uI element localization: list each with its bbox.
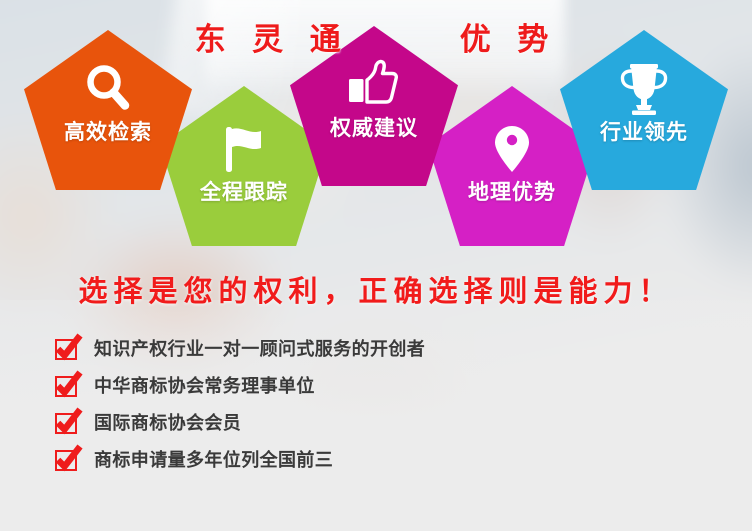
list-item-label: 知识产权行业一对一顾问式服务的开创者: [94, 340, 425, 358]
feature-label: 权威建议: [330, 118, 418, 139]
list-item-label: 商标申请量多年位列全国前三: [94, 451, 333, 469]
headline-slogan: 选择是您的权利，正确选择则是能力！: [0, 272, 752, 312]
trophy-icon: [618, 60, 670, 118]
feature-pentagon-leading[interactable]: 行业领先: [560, 30, 728, 190]
feature-label: 全程跟踪: [200, 182, 288, 203]
list-item: 中华商标协会常务理事单位: [54, 367, 674, 404]
checkbox-checked-icon: [54, 336, 80, 362]
feature-label: 高效检索: [64, 122, 152, 143]
list-item-label: 国际商标协会会员: [94, 414, 241, 432]
checkbox-checked-icon: [54, 410, 80, 436]
feature-pentagon-search[interactable]: 高效检索: [24, 30, 192, 190]
checkbox-checked-icon: [54, 373, 80, 399]
location-pin-icon: [492, 120, 532, 178]
list-item: 知识产权行业一对一顾问式服务的开创者: [54, 330, 674, 367]
feature-pentagon-group: 高效检索 全程跟踪 权威建议 地理优势: [0, 0, 752, 270]
feature-pentagon-advice[interactable]: 权威建议: [290, 26, 458, 186]
checkbox-checked-icon: [54, 447, 80, 473]
list-item: 国际商标协会会员: [54, 404, 674, 441]
magnifier-icon: [83, 60, 133, 118]
thumbs-up-icon: [347, 56, 401, 114]
flag-icon: [220, 120, 268, 178]
feature-label: 地理优势: [468, 182, 556, 203]
list-item-label: 中华商标协会常务理事单位: [94, 377, 315, 395]
benefit-list: 知识产权行业一对一顾问式服务的开创者 中华商标协会常务理事单位 国际商标协会会员: [54, 330, 674, 478]
list-item: 商标申请量多年位列全国前三: [54, 441, 674, 478]
feature-label: 行业领先: [600, 122, 688, 143]
